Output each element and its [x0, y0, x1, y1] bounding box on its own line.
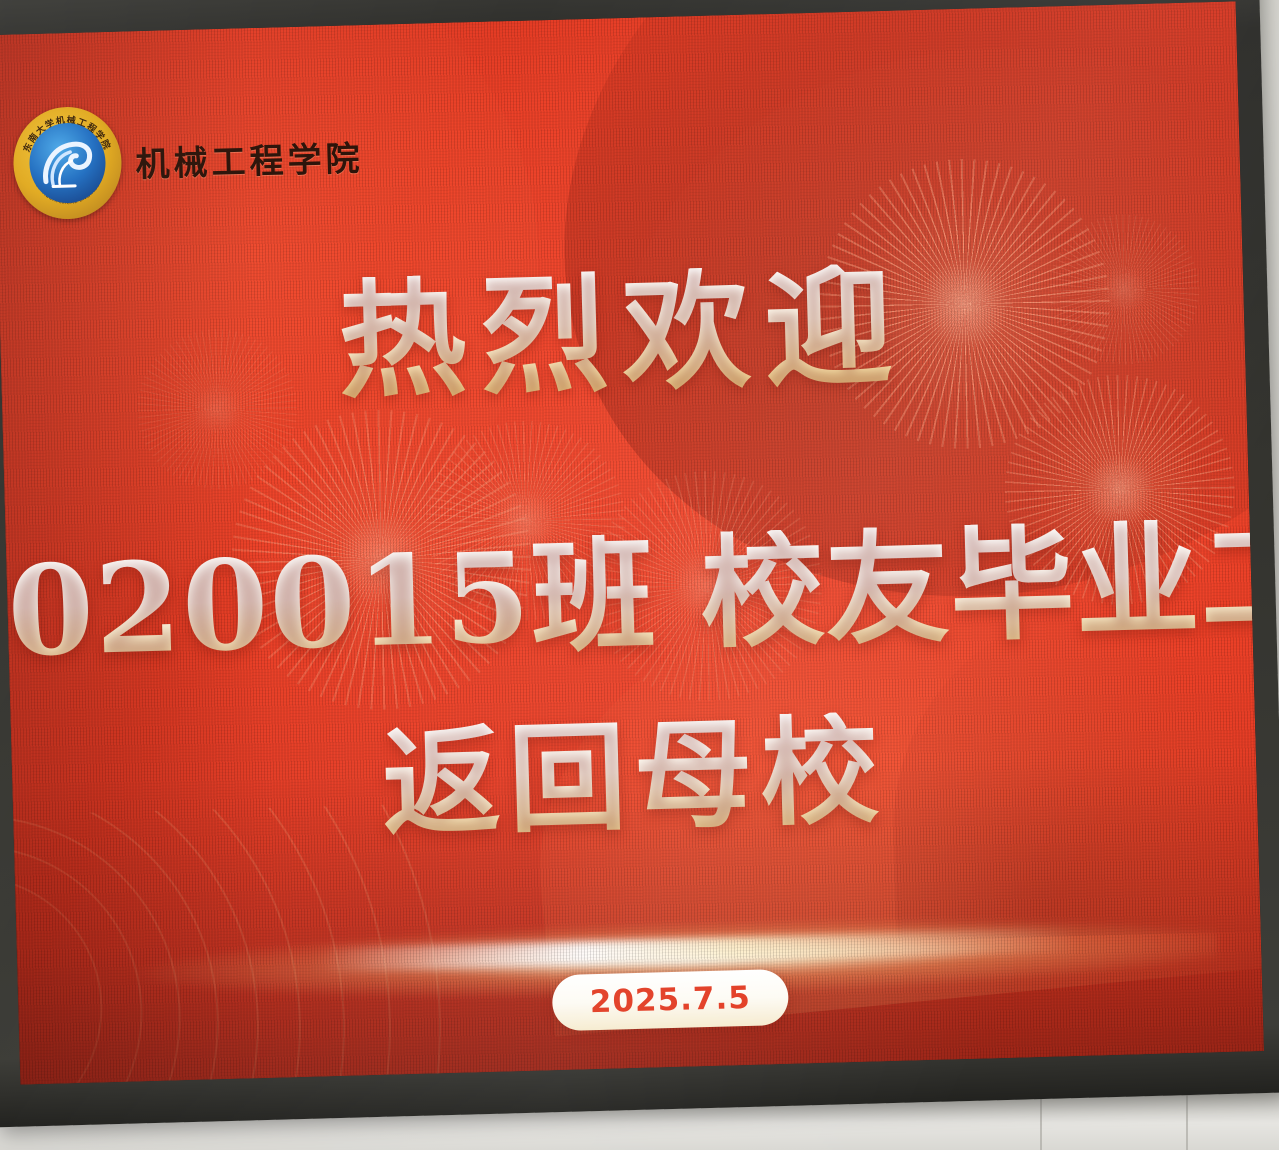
date-badge: 2025.7.5 — [552, 969, 789, 1031]
floor-line — [1040, 1092, 1042, 1150]
institution-logo-row: 东南大学机械工程学院 SCHOOL OF MECHANICAL ENGINEER… — [12, 99, 365, 220]
department-name: 机械工程学院 — [135, 131, 364, 186]
wave-swirl-icon — [39, 136, 98, 192]
university-crest-icon: 东南大学机械工程学院 SCHOOL OF MECHANICAL ENGINEER… — [12, 106, 123, 221]
floor-line — [1186, 1092, 1188, 1150]
date-badge-label: 2025.7.5 — [589, 980, 751, 1020]
led-display-surface: 东南大学机械工程学院 SCHOOL OF MECHANICAL ENGINEER… — [0, 1, 1264, 1084]
screen-bezel: 东南大学机械工程学院 SCHOOL OF MECHANICAL ENGINEER… — [0, 0, 1279, 1127]
reunion-title-line-1: 020015班 校友毕业二十周年 — [6, 517, 1253, 675]
photo-scene: 东南大学机械工程学院 SCHOOL OF MECHANICAL ENGINEER… — [0, 0, 1279, 1150]
screen-panel: 东南大学机械工程学院 SCHOOL OF MECHANICAL ENGINEER… — [0, 1, 1264, 1084]
